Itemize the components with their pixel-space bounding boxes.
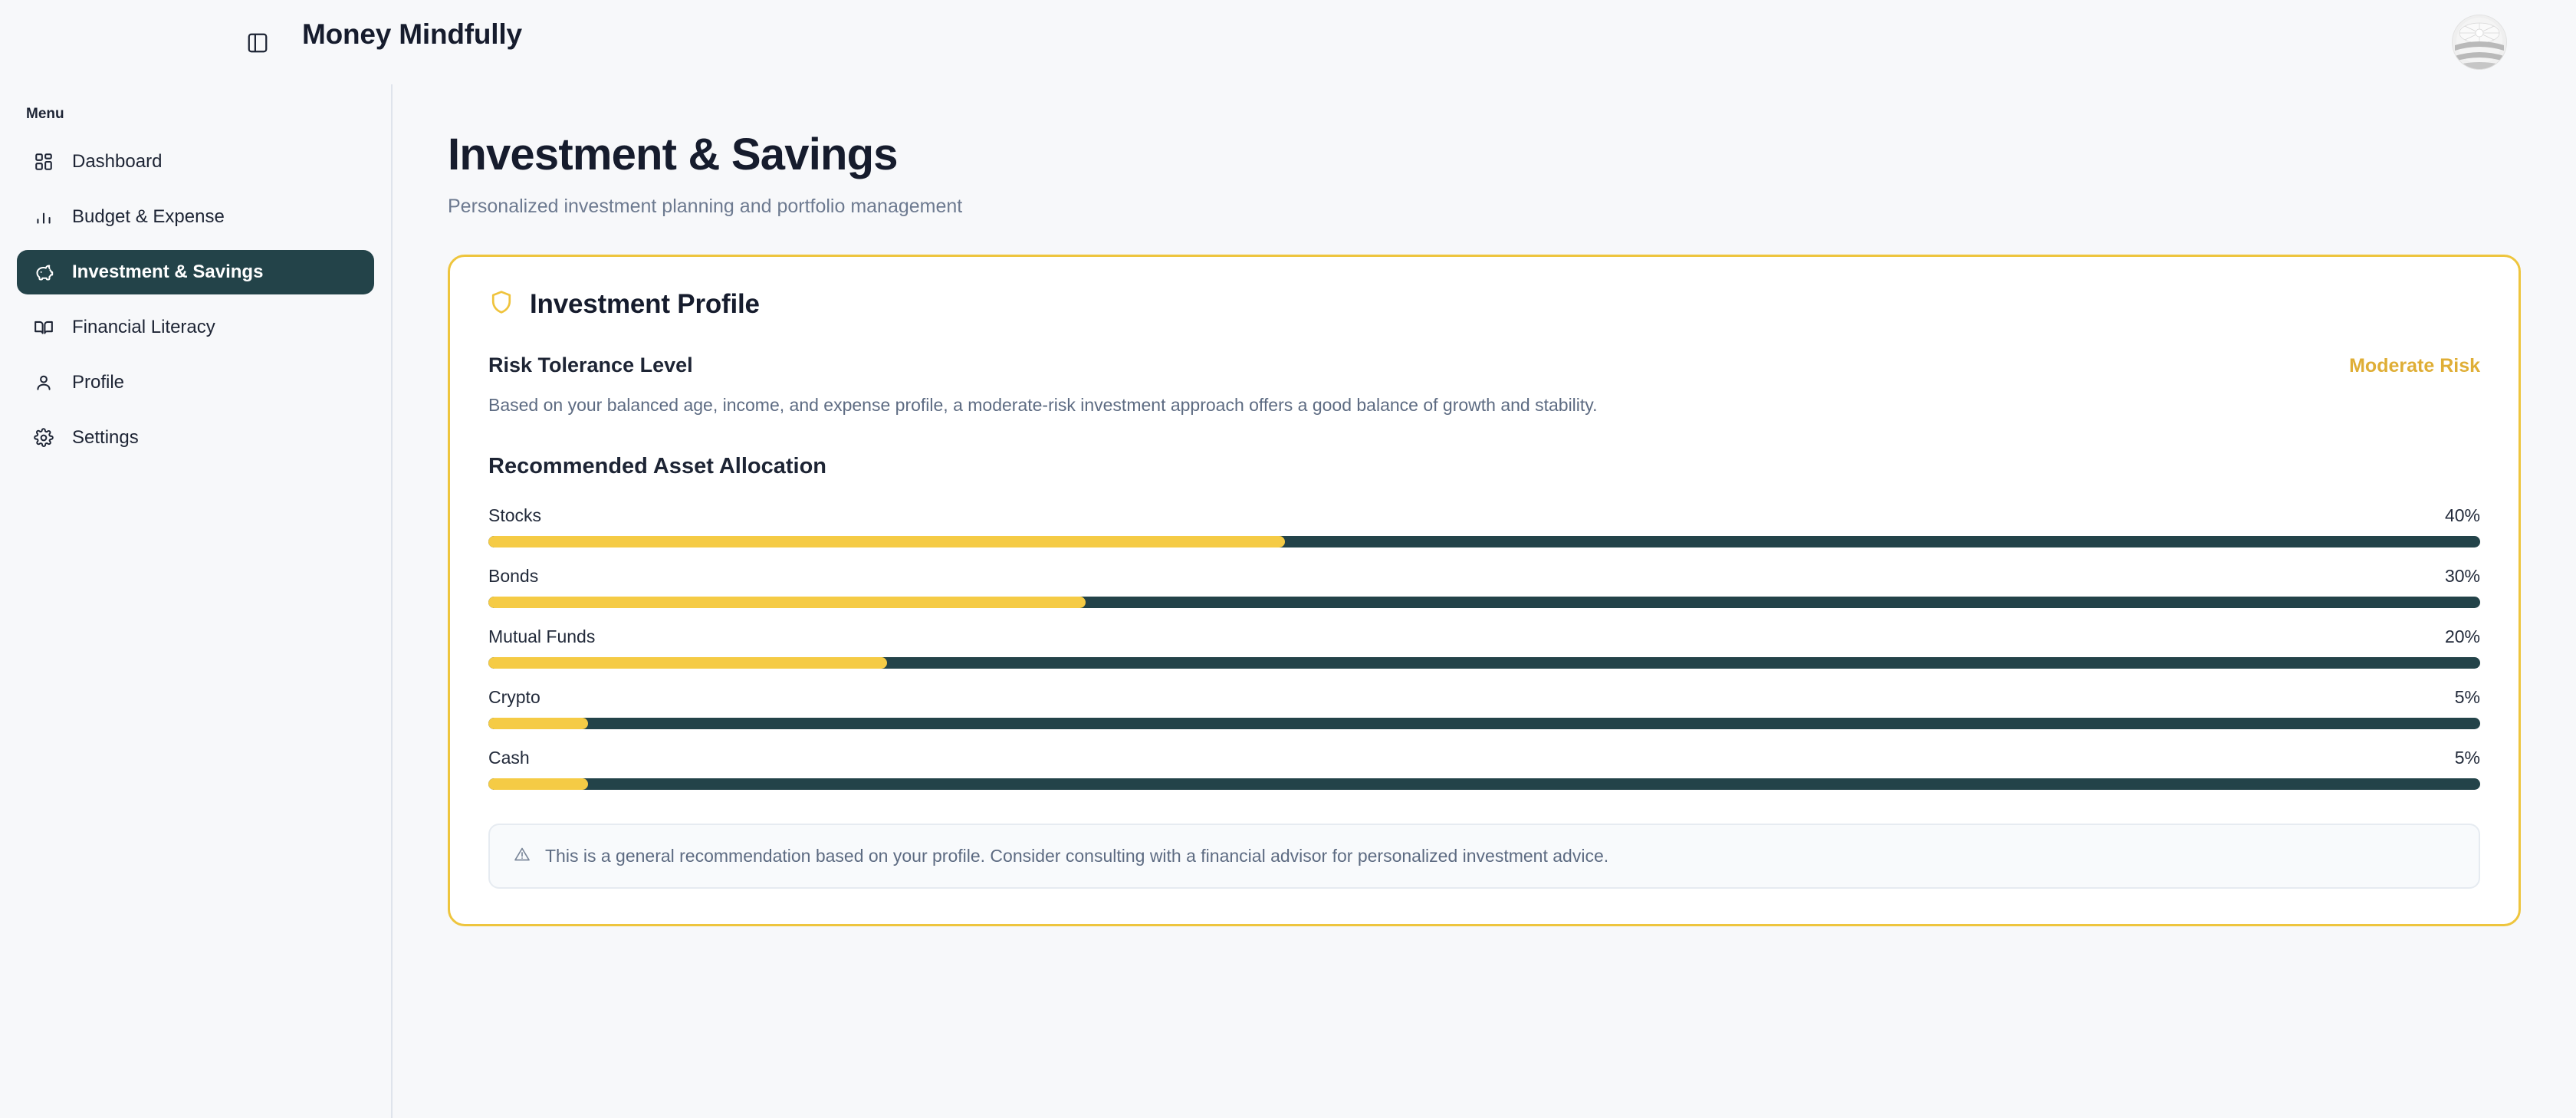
page-subtitle: Personalized investment planning and por… bbox=[448, 196, 2521, 218]
allocation-bar-fill bbox=[488, 657, 887, 669]
investment-profile-card: Investment Profile Risk Tolerance Level … bbox=[448, 255, 2521, 926]
page-layout: Menu Dashboard Budget & Expens bbox=[0, 84, 2576, 1118]
sidebar-item-label: Settings bbox=[72, 427, 139, 449]
risk-description: Based on your balanced age, income, and … bbox=[488, 393, 2480, 417]
allocation-percent: 5% bbox=[2455, 687, 2480, 708]
allocation-percent: 40% bbox=[2445, 505, 2480, 526]
allocation-row-crypto: Crypto 5% bbox=[488, 687, 2480, 729]
allocation-percent: 20% bbox=[2445, 626, 2480, 647]
allocation-bar-fill bbox=[488, 536, 1285, 547]
sidebar-item-label: Dashboard bbox=[72, 151, 162, 173]
allocation-label: Crypto bbox=[488, 687, 540, 708]
book-icon bbox=[32, 316, 55, 339]
allocation-label: Mutual Funds bbox=[488, 626, 595, 647]
sidebar-item-label: Profile bbox=[72, 372, 124, 393]
allocation-percent: 30% bbox=[2445, 566, 2480, 587]
allocation-row-bonds: Bonds 30% bbox=[488, 566, 2480, 608]
disclaimer-text: This is a general recommendation based o… bbox=[545, 846, 1608, 866]
sidebar-item-financial-literacy[interactable]: Financial Literacy bbox=[17, 305, 374, 350]
sidebar-item-label: Investment & Savings bbox=[72, 261, 263, 283]
shield-icon bbox=[488, 289, 514, 319]
user-icon bbox=[32, 371, 55, 394]
allocation-heading: Recommended Asset Allocation bbox=[488, 454, 2480, 479]
sidebar-menu-label: Menu bbox=[0, 106, 391, 140]
allocation-percent: 5% bbox=[2455, 748, 2480, 768]
avatar[interactable] bbox=[2452, 15, 2507, 70]
card-header: Investment Profile bbox=[488, 289, 2480, 320]
app-title: Money Mindfully bbox=[302, 18, 522, 51]
allocation-label: Stocks bbox=[488, 505, 541, 526]
card-title: Investment Profile bbox=[530, 289, 760, 320]
sidebar-item-investment-savings[interactable]: Investment & Savings bbox=[17, 250, 374, 294]
sidebar: Menu Dashboard Budget & Expens bbox=[0, 84, 393, 1118]
allocation-row-cash: Cash 5% bbox=[488, 748, 2480, 790]
allocation-bar-track bbox=[488, 597, 2480, 608]
risk-level-badge[interactable]: Moderate Risk bbox=[2349, 355, 2480, 377]
sidebar-item-dashboard[interactable]: Dashboard bbox=[17, 140, 374, 184]
allocation-bar-track bbox=[488, 718, 2480, 729]
main-content: Investment & Savings Personalized invest… bbox=[393, 84, 2576, 1118]
allocation-label: Bonds bbox=[488, 566, 538, 587]
warning-triangle-icon bbox=[513, 845, 531, 867]
allocation-row-stocks: Stocks 40% bbox=[488, 505, 2480, 547]
grid-icon bbox=[32, 150, 55, 173]
gear-icon bbox=[32, 426, 55, 449]
allocation-bar-fill bbox=[488, 778, 588, 790]
top-bar: Money Mindfully bbox=[0, 0, 2576, 84]
sidebar-item-label: Budget & Expense bbox=[72, 206, 225, 228]
sidebar-toggle-icon bbox=[246, 31, 269, 54]
allocation-bar-track bbox=[488, 778, 2480, 790]
sidebar-item-budget-expense[interactable]: Budget & Expense bbox=[17, 195, 374, 239]
user-avatar-image bbox=[2452, 15, 2507, 70]
sidebar-item-profile[interactable]: Profile bbox=[17, 360, 374, 405]
risk-tolerance-heading: Risk Tolerance Level bbox=[488, 353, 693, 377]
bar-chart-icon bbox=[32, 206, 55, 229]
risk-tolerance-row: Risk Tolerance Level Moderate Risk bbox=[488, 353, 2480, 377]
page-title: Investment & Savings bbox=[448, 132, 2521, 179]
sidebar-toggle-button[interactable] bbox=[244, 29, 271, 57]
allocation-row-mutual-funds: Mutual Funds 20% bbox=[488, 626, 2480, 669]
allocation-bar-fill bbox=[488, 597, 1086, 608]
sidebar-item-label: Financial Literacy bbox=[72, 317, 215, 338]
allocation-label: Cash bbox=[488, 748, 530, 768]
allocation-bar-track bbox=[488, 536, 2480, 547]
allocation-bar-track bbox=[488, 657, 2480, 669]
allocation-bar-fill bbox=[488, 718, 588, 729]
disclaimer-box: This is a general recommendation based o… bbox=[488, 824, 2480, 889]
piggy-bank-icon bbox=[32, 261, 55, 284]
sidebar-item-settings[interactable]: Settings bbox=[17, 416, 374, 460]
